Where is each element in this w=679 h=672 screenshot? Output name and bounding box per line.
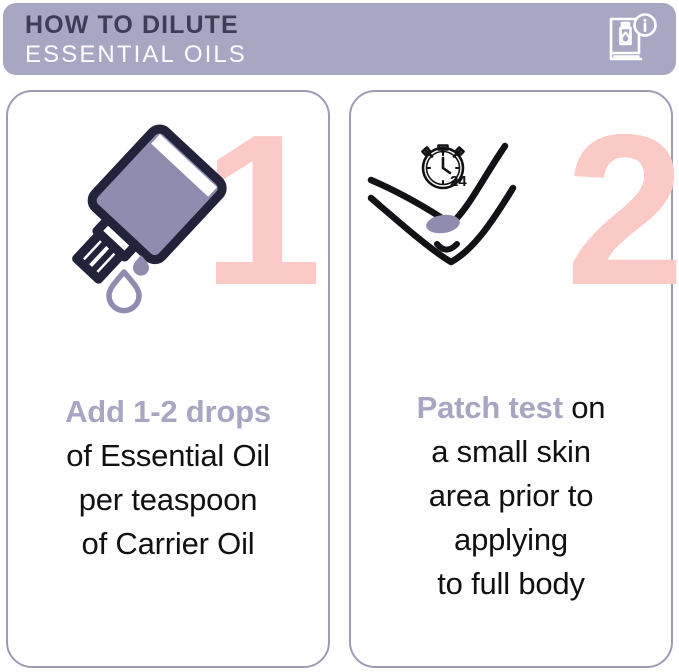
steps-container: 1 <box>0 90 679 672</box>
stopwatch-hours-label: 24 <box>450 173 467 190</box>
step-caption-2-first-line: Patch test on <box>359 386 663 430</box>
step-caption-2-line-3: applying <box>359 518 663 562</box>
dropper-bottle-icon <box>18 112 268 322</box>
step-caption-2-highlight: Patch test <box>417 390 563 425</box>
page-subtitle: ESSENTIAL OILS <box>25 40 247 69</box>
bottle-info-icon <box>604 12 658 66</box>
step-caption-2-line-2: area prior to <box>359 474 663 518</box>
step-caption-2-line-1: a small skin <box>359 430 663 474</box>
step-caption-1-line-2: per teaspoon <box>16 478 320 522</box>
infographic-root: HOW TO DILUTE ESSENTIAL OILS <box>0 0 679 672</box>
step-caption-1-line-3: of Carrier Oil <box>16 522 320 566</box>
step-caption-2: Patch test on a small skin area prior to… <box>359 386 663 606</box>
step-caption-2-line-4: to full body <box>359 562 663 606</box>
header-bar: HOW TO DILUTE ESSENTIAL OILS <box>3 3 676 75</box>
page-title: HOW TO DILUTE <box>25 11 247 40</box>
step-card-1: 1 <box>6 90 330 668</box>
header-text-group: HOW TO DILUTE ESSENTIAL OILS <box>25 11 247 69</box>
step-number-2: 2 <box>565 102 679 317</box>
step-caption-1-line-1: of Essential Oil <box>16 434 320 478</box>
step-card-2: 2 <box>349 90 673 668</box>
elbow-patch-test-icon: 24 <box>365 132 565 282</box>
step-caption-1: Add 1-2 drops of Essential Oil per teasp… <box>16 390 320 566</box>
step-caption-2-tail: on <box>563 390 606 425</box>
step-caption-1-highlight: Add 1-2 drops <box>16 390 320 434</box>
